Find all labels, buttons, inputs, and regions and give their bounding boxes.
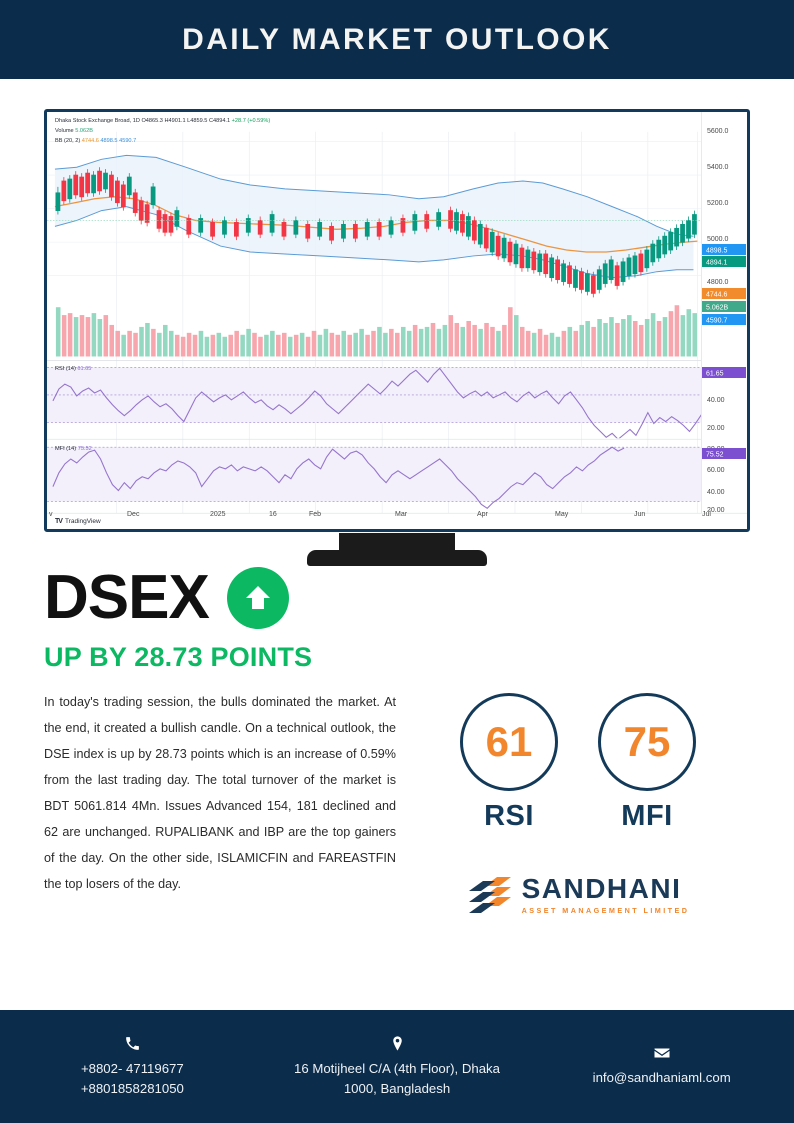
gauge-mfi-value: 75 [624, 718, 671, 766]
svg-text:v: v [49, 511, 53, 518]
main-content: DSEX UP BY 28.73 POINTS In today's tradi… [0, 567, 794, 917]
index-name: DSEX [44, 567, 209, 629]
svg-text:40.00: 40.00 [707, 397, 725, 404]
index-change-subtitle: UP BY 28.73 POINTS [44, 642, 750, 673]
svg-text:Dec: Dec [127, 511, 140, 518]
svg-text:5400.0: 5400.0 [707, 164, 729, 171]
time-axis[interactable]: v Dec 2025 16 Feb Mar Apr May Jun Jul [47, 507, 750, 521]
svg-text:2025: 2025 [210, 511, 226, 518]
footer-address-2: 1000, Bangladesh [344, 1079, 450, 1098]
gauge-mfi: 75 MFI [598, 693, 696, 833]
svg-text:5200.0: 5200.0 [707, 200, 729, 207]
svg-text:61.65: 61.65 [706, 371, 724, 378]
company-logo: SANDHANI ASSET MANAGEMENT LIMITED [467, 873, 690, 917]
sandhani-logo-icon [467, 873, 513, 917]
page-footer: +8802- 47119677 +8801858281050 16 Motijh… [0, 1010, 794, 1123]
arrow-up-icon [227, 567, 289, 629]
gauge-mfi-circle: 75 [598, 693, 696, 791]
price-axis[interactable]: 5600.0 5400.0 5200.0 5000.0 4800.0 4898.… [701, 112, 747, 532]
page-title: DAILY MARKET OUTLOOK [182, 23, 612, 57]
tradingview-brand: TV TradingView [55, 518, 101, 525]
metrics-column: 61 RSI 75 MFI [396, 689, 750, 917]
chart-canvas [47, 112, 747, 529]
gauge-rsi-circle: 61 [460, 693, 558, 791]
gauge-rsi: 61 RSI [460, 693, 558, 833]
tradingview-name: TradingView [65, 518, 101, 525]
market-summary-text: In today's trading session, the bulls do… [44, 689, 396, 917]
svg-text:60.00: 60.00 [707, 467, 725, 474]
tradingview-chart[interactable]: Dhaka Stock Exchange Broad, 1D O4865.3 H… [47, 112, 747, 529]
footer-phone: +8802- 47119677 +8801858281050 [0, 1035, 265, 1097]
logo-company-name: SANDHANI [522, 875, 690, 903]
svg-text:5600.0: 5600.0 [707, 128, 729, 135]
svg-text:40.00: 40.00 [707, 489, 725, 496]
svg-text:16: 16 [269, 511, 277, 518]
svg-text:4744.6: 4744.6 [706, 292, 728, 299]
svg-text:4898.5: 4898.5 [706, 248, 728, 255]
footer-email: info@sandhaniaml.com [529, 1045, 794, 1087]
footer-phone-2[interactable]: +8801858281050 [81, 1079, 184, 1098]
logo-text-block: SANDHANI ASSET MANAGEMENT LIMITED [522, 875, 690, 915]
index-heading-row: DSEX [44, 567, 750, 629]
page-header: DAILY MARKET OUTLOOK [0, 0, 794, 79]
footer-email-address[interactable]: info@sandhaniaml.com [593, 1068, 731, 1087]
svg-text:75.52: 75.52 [706, 452, 724, 459]
footer-address-1: 16 Motijheel C/A (4th Floor), Dhaka [294, 1059, 500, 1078]
monitor-base [307, 550, 487, 566]
gauge-rsi-value: 61 [486, 718, 533, 766]
svg-text:May: May [555, 511, 569, 518]
location-pin-icon [389, 1035, 406, 1052]
monitor-screen: Dhaka Stock Exchange Broad, 1D O4865.3 H… [44, 109, 750, 532]
tradingview-logo-icon: TV [55, 518, 62, 525]
svg-text:5.062B: 5.062B [706, 305, 729, 312]
svg-text:Feb: Feb [309, 511, 321, 518]
footer-address: 16 Motijheel C/A (4th Floor), Dhaka 1000… [265, 1035, 530, 1097]
svg-text:4590.7: 4590.7 [706, 318, 728, 325]
envelope-icon [653, 1045, 671, 1061]
logo-tagline: ASSET MANAGEMENT LIMITED [522, 906, 690, 915]
monitor: Dhaka Stock Exchange Broad, 1D O4865.3 H… [0, 109, 794, 559]
svg-text:Apr: Apr [477, 511, 489, 518]
summary-and-metrics: In today's trading session, the bulls do… [44, 689, 750, 917]
gauge-mfi-label: MFI [621, 800, 672, 833]
svg-text:20.00: 20.00 [707, 425, 725, 432]
indicator-gauges: 61 RSI 75 MFI [460, 693, 696, 833]
arrow-up-glyph [241, 581, 275, 615]
svg-text:Mar: Mar [395, 511, 408, 518]
monitor-neck [387, 533, 407, 550]
footer-phone-1[interactable]: +8802- 47119677 [81, 1059, 184, 1078]
phone-icon [124, 1035, 141, 1052]
svg-text:4800.0: 4800.0 [707, 279, 729, 286]
gauge-rsi-label: RSI [484, 800, 534, 833]
svg-text:5000.0: 5000.0 [707, 236, 729, 243]
svg-text:Jul: Jul [702, 511, 711, 518]
svg-text:Jun: Jun [634, 511, 645, 518]
svg-text:4894.1: 4894.1 [706, 260, 728, 267]
